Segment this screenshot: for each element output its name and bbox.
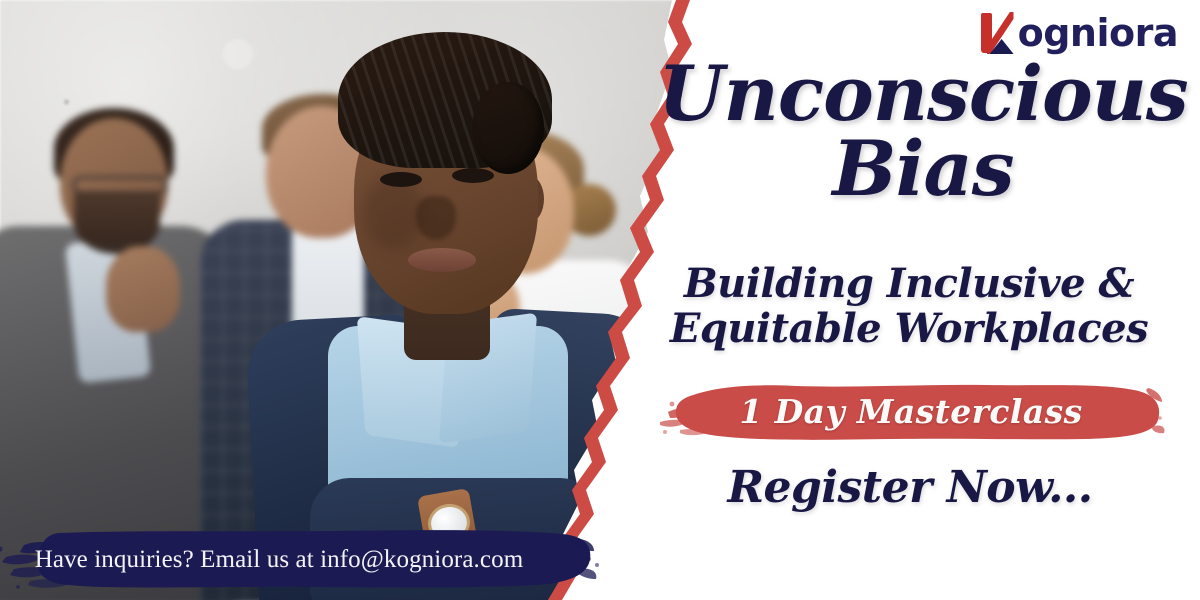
page-title: Unconscious Bias	[658, 58, 1188, 206]
footer-contact-bar: Have inquiries? Email us at info@kognior…	[0, 525, 600, 595]
badge-label: 1 Day Masterclass	[656, 378, 1166, 444]
title-line-1: Unconscious	[658, 58, 1188, 131]
contact-email-text: Have inquiries? Email us at info@kognior…	[0, 525, 600, 595]
content-panel: ogniora Unconscious Bias Building Inclus…	[600, 0, 1200, 600]
logo-wordmark: ogniora	[1018, 14, 1178, 52]
title-line-2: Bias	[658, 133, 1188, 206]
foreground-subject-woman	[258, 26, 630, 600]
register-now-cta[interactable]: Register Now...	[640, 462, 1180, 513]
masterclass-badge: 1 Day Masterclass	[656, 378, 1166, 444]
event-banner: ogniora Unconscious Bias Building Inclus…	[0, 0, 1200, 600]
hero-photo	[0, 0, 700, 600]
subtitle: Building Inclusive & Equitable Workplace…	[620, 262, 1198, 352]
